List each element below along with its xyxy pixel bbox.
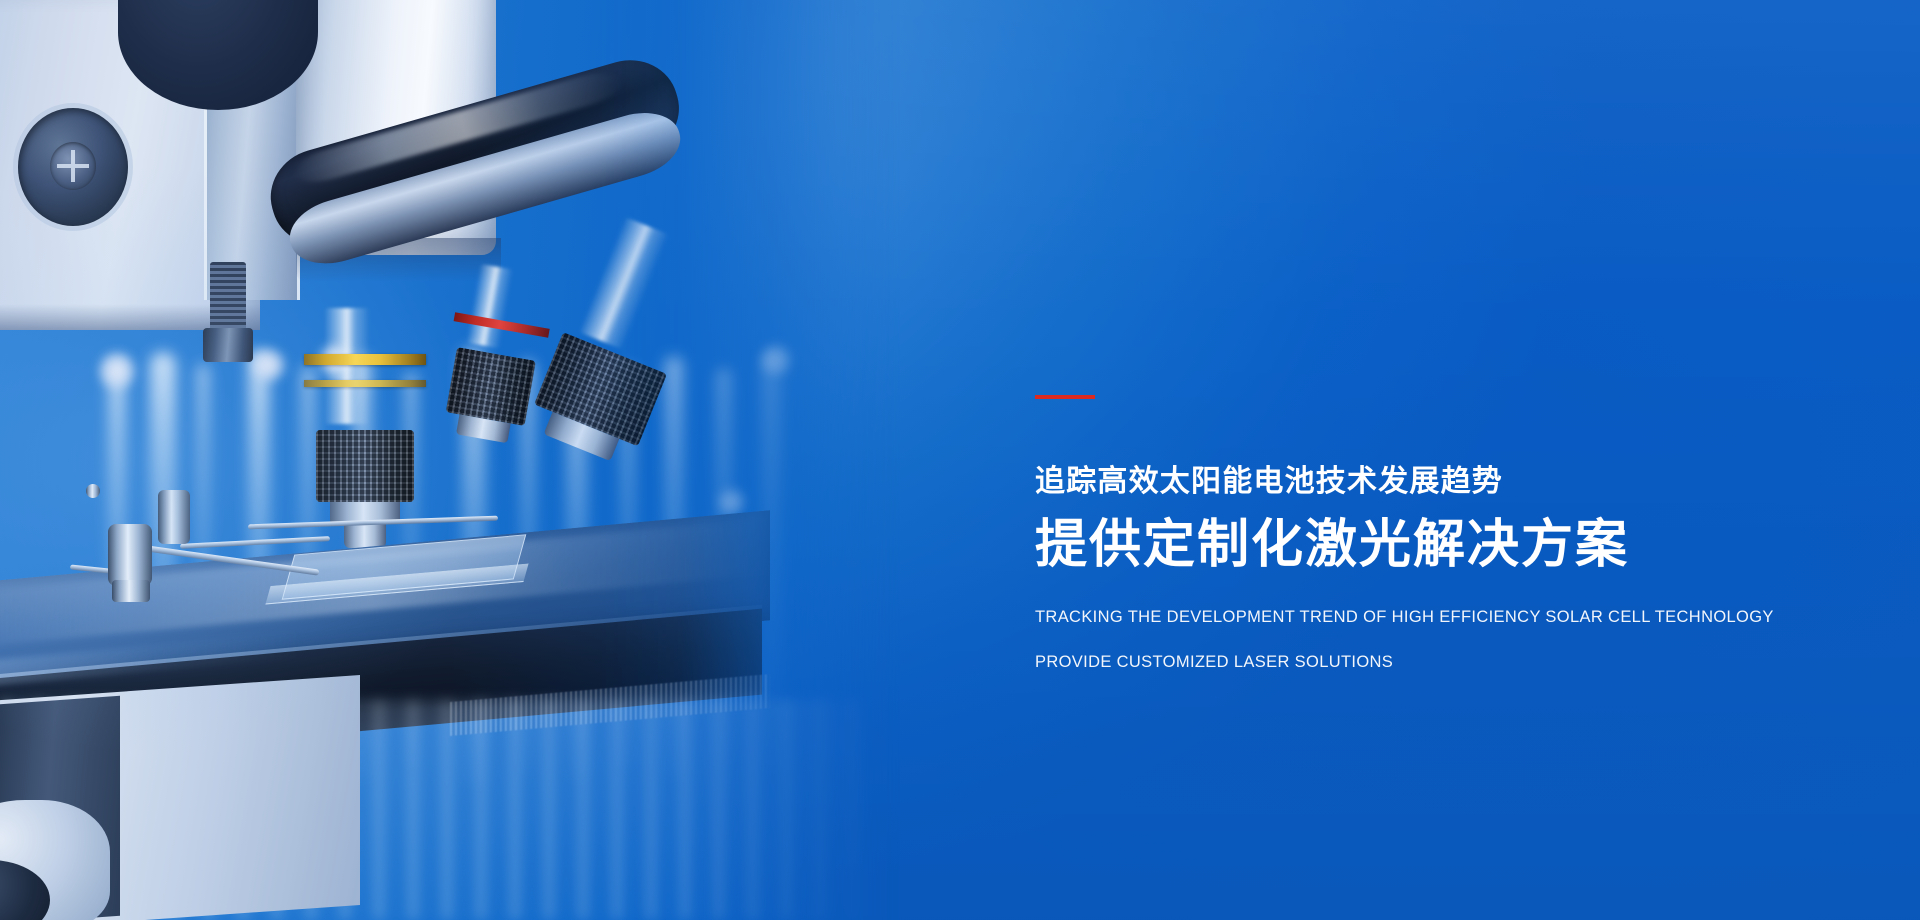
microscope-photo <box>0 0 900 920</box>
accent-rule <box>1035 395 1095 399</box>
english-subtitle-line-2: PROVIDE CUSTOMIZED LASER SOLUTIONS <box>1035 654 1855 671</box>
photo-haze <box>0 0 900 920</box>
hero-banner: 追踪高效太阳能电池技术发展趋势 提供定制化激光解决方案 TRACKING THE… <box>0 0 1920 920</box>
hero-text-block: 追踪高效太阳能电池技术发展趋势 提供定制化激光解决方案 TRACKING THE… <box>1035 395 1855 670</box>
page-title: 提供定制化激光解决方案 <box>1035 519 1855 571</box>
subheadline: 追踪高效太阳能电池技术发展趋势 <box>1035 467 1855 497</box>
english-subtitle-line-1: TRACKING THE DEVELOPMENT TREND OF HIGH E… <box>1035 609 1855 626</box>
